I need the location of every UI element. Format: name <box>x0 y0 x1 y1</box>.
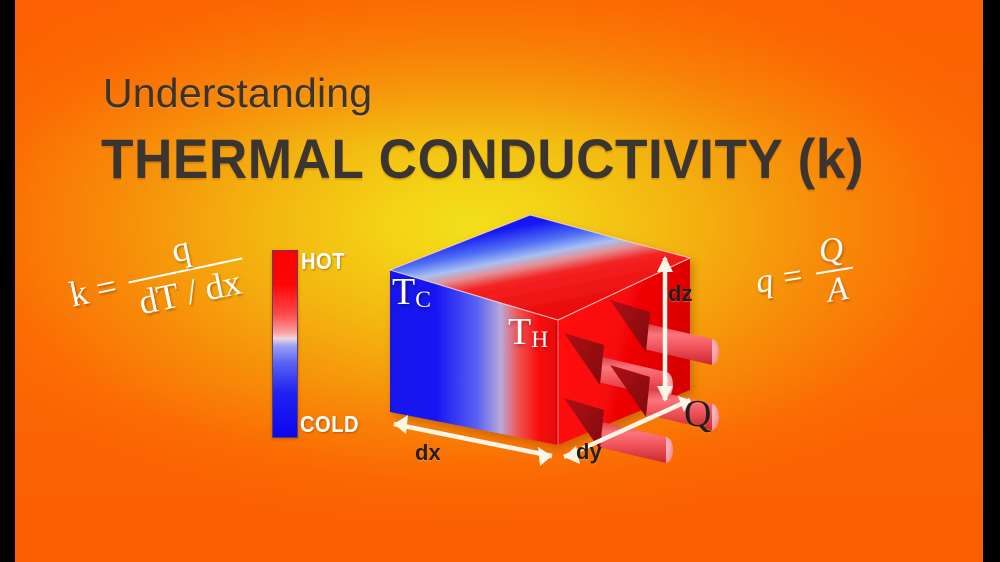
formula-right-lhs: q = <box>753 257 807 302</box>
colorbar-hot-label: HOT <box>301 248 345 275</box>
formula-heat-flux: q = Q A <box>750 229 862 322</box>
dx-label: dx <box>415 440 441 466</box>
temperature-colorbar <box>272 250 298 438</box>
slide-canvas: Understanding THERMAL CONDUCTIVITY (k) k… <box>0 0 1000 562</box>
page-title: THERMAL CONDUCTIVITY (k) <box>101 126 864 191</box>
formula-right-denominator: A <box>816 267 858 312</box>
heat-flow-label: Q <box>684 392 711 436</box>
page-subtitle: Understanding <box>103 70 372 117</box>
formula-right-numerator: Q <box>810 229 852 272</box>
formula-left-lhs: k = <box>66 265 121 316</box>
dy-label: dy <box>576 439 602 465</box>
left-letterbox-bar <box>0 0 15 562</box>
hot-temperature-symbol: T <box>508 311 531 353</box>
cold-temperature-symbol: T <box>392 271 415 313</box>
hot-temperature-label: TH <box>508 310 548 354</box>
cold-temperature-label: TC <box>392 270 431 314</box>
colorbar-cold-label: COLD <box>300 411 359 438</box>
right-letterbox-bar <box>983 0 1000 562</box>
cold-temperature-subscript: C <box>415 287 431 313</box>
dz-label: dz <box>668 281 692 307</box>
hot-temperature-subscript: H <box>531 327 548 353</box>
formula-right-fraction: Q A <box>810 229 858 312</box>
